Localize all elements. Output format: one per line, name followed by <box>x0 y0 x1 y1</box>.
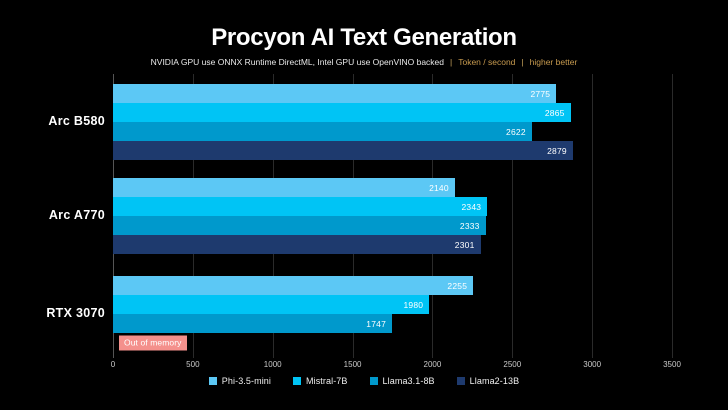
bar[interactable] <box>113 122 532 141</box>
legend-label: Phi-3.5-mini <box>222 376 271 386</box>
bar-value-label: 2255 <box>447 281 467 291</box>
x-axis-tick-500: 500 <box>186 360 199 369</box>
page-title: Procyon AI Text Generation <box>0 24 728 52</box>
category-label: Arc B580 <box>5 114 105 128</box>
bar[interactable] <box>113 141 573 160</box>
bar-row[interactable]: 2865 <box>113 103 672 122</box>
bar[interactable] <box>113 84 556 103</box>
legend-item-llama3-1-8b[interactable]: Llama3.1-8B <box>370 376 435 386</box>
bar-value-label: 1980 <box>404 300 424 310</box>
plot-area: 2775286526222879Arc B5802140234323332301… <box>113 74 672 358</box>
x-axis: 0500100015002000250030003500 <box>113 358 672 374</box>
bar[interactable] <box>113 178 455 197</box>
bar-row[interactable]: 1980 <box>113 295 672 314</box>
bar[interactable] <box>113 103 571 122</box>
x-axis-tick-0: 0 <box>111 360 115 369</box>
bar[interactable] <box>113 216 486 235</box>
bar-value-label: 2622 <box>506 127 526 137</box>
category-label: Arc A770 <box>5 208 105 222</box>
bar-row[interactable]: 1747 <box>113 314 672 333</box>
bar-row[interactable]: 2343 <box>113 197 672 216</box>
x-axis-tick-3000: 3000 <box>583 360 601 369</box>
bar-row[interactable]: 2255 <box>113 276 672 295</box>
legend-swatch-icon <box>370 377 378 385</box>
bar-row[interactable]: 2301 <box>113 235 672 254</box>
bar-value-label: 2333 <box>460 221 480 231</box>
bar[interactable] <box>113 314 392 333</box>
legend-item-mistral-7b[interactable]: Mistral-7B <box>293 376 348 386</box>
legend-item-llama2-13b[interactable]: Llama2-13B <box>457 376 520 386</box>
subtitle-main-text: NVIDIA GPU use ONNX Runtime DirectML, In… <box>151 57 444 67</box>
bar-row[interactable]: 2140 <box>113 178 672 197</box>
bar-value-label: 2140 <box>429 183 449 193</box>
chart-legend: Phi-3.5-miniMistral-7BLlama3.1-8BLlama2-… <box>0 376 728 386</box>
legend-label: Llama3.1-8B <box>383 376 435 386</box>
bar-value-label: 2879 <box>547 146 567 156</box>
legend-label: Mistral-7B <box>306 376 348 386</box>
bar-value-label: 1747 <box>366 319 386 329</box>
subtitle-separator-2: | <box>515 57 529 67</box>
bar[interactable] <box>113 276 473 295</box>
category-label: RTX 3070 <box>5 306 105 320</box>
x-axis-tick-2500: 2500 <box>503 360 521 369</box>
bar-row[interactable]: 2775 <box>113 84 672 103</box>
bar-group: 225519801747Out of memory <box>113 276 672 352</box>
x-axis-tick-2000: 2000 <box>424 360 442 369</box>
gridline-3500 <box>672 74 673 358</box>
x-axis-tick-1500: 1500 <box>344 360 362 369</box>
chart-subtitle: NVIDIA GPU use ONNX Runtime DirectML, In… <box>0 57 728 67</box>
bar-value-label: 2865 <box>545 108 565 118</box>
subtitle-note-text: higher better <box>530 57 578 67</box>
bar-value-label: 2775 <box>530 89 550 99</box>
legend-swatch-icon <box>293 377 301 385</box>
out-of-memory-badge: Out of memory <box>119 335 187 350</box>
legend-swatch-icon <box>457 377 465 385</box>
bar-group: 2140234323332301 <box>113 178 672 254</box>
subtitle-metric-text: Token / second <box>458 57 515 67</box>
bar-value-label: 2301 <box>455 240 475 250</box>
legend-swatch-icon <box>209 377 217 385</box>
bar[interactable] <box>113 295 429 314</box>
bar-row[interactable]: 2622 <box>113 122 672 141</box>
x-axis-tick-3500: 3500 <box>663 360 681 369</box>
chart-container: Procyon AI Text Generation NVIDIA GPU us… <box>0 0 728 410</box>
bar[interactable] <box>113 235 481 254</box>
bar-row[interactable]: 2879 <box>113 141 672 160</box>
subtitle-separator-1: | <box>444 57 458 67</box>
bar[interactable] <box>113 197 487 216</box>
bar-group: 2775286526222879 <box>113 84 672 160</box>
legend-item-phi-3-5-mini[interactable]: Phi-3.5-mini <box>209 376 271 386</box>
bar-row[interactable]: 2333 <box>113 216 672 235</box>
bar-value-label: 2343 <box>461 202 481 212</box>
bar-row[interactable]: Out of memory <box>113 333 672 352</box>
x-axis-tick-1000: 1000 <box>264 360 282 369</box>
legend-label: Llama2-13B <box>470 376 520 386</box>
